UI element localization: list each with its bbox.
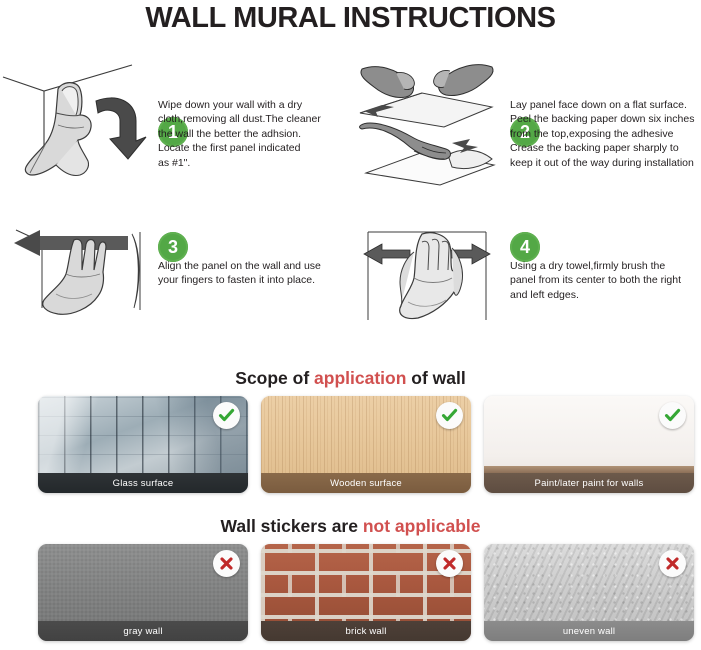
not-applicable-heading: Wall stickers are not applicable [0,516,701,537]
applicable-heading-before: Scope of [235,368,314,388]
instruction-sheet: WALL MURAL INSTRUCTIONS 1 Wipe down your… [0,0,701,650]
not-applicable-card-uneven: uneven wall [484,544,694,641]
step-1: 1 Wipe down your wall with a dry cloth,r… [0,55,340,195]
step-4-badge: 4 [510,232,540,262]
cross-icon [213,550,240,577]
step-4-text: Using a dry towel,firmly brush the panel… [510,259,695,302]
cross-icon [436,550,463,577]
step-2-text: Lay panel face down on a flat surface. P… [510,98,701,170]
applicable-heading-highlight: application [314,368,406,388]
brick-wall-label: brick wall [261,621,471,641]
step-3-illustration [0,212,150,320]
not-applicable-card-brick: brick wall [261,544,471,641]
paint-surface-label: Paint/later paint for walls [484,473,694,493]
step-4: 4 Using a dry towel,firmly brush the pan… [352,212,701,327]
applicable-heading-after: of wall [406,368,465,388]
not-applicable-card-gray: gray wall [38,544,248,641]
step-3-text: Align the panel on the wall and use your… [158,259,338,288]
check-icon [213,402,240,429]
uneven-wall-label: uneven wall [484,621,694,641]
not-applicable-heading-highlight: not applicable [363,516,481,536]
cross-icon [659,550,686,577]
step-2-illustration [352,55,500,190]
wooden-surface-label: Wooden surface [261,473,471,493]
step-1-text: Wipe down your wall with a dry cloth,rem… [158,98,340,170]
applicable-card-paint: Paint/later paint for walls [484,396,694,493]
check-icon [436,402,463,429]
step-4-illustration [352,212,502,324]
not-applicable-heading-before: Wall stickers are [220,516,362,536]
step-3: 3 Align the panel on the wall and use yo… [0,212,340,322]
glass-surface-label: Glass surface [38,473,248,493]
applicable-card-wood: Wooden surface [261,396,471,493]
step-2: 2 Lay panel face down on a flat surface.… [352,55,701,195]
step-1-illustration [0,55,150,190]
page-title: WALL MURAL INSTRUCTIONS [0,2,701,35]
check-icon [659,402,686,429]
step-3-badge: 3 [158,232,188,262]
applicable-heading: Scope of application of wall [0,368,701,389]
applicable-card-glass: Glass surface [38,396,248,493]
gray-wall-label: gray wall [38,621,248,641]
